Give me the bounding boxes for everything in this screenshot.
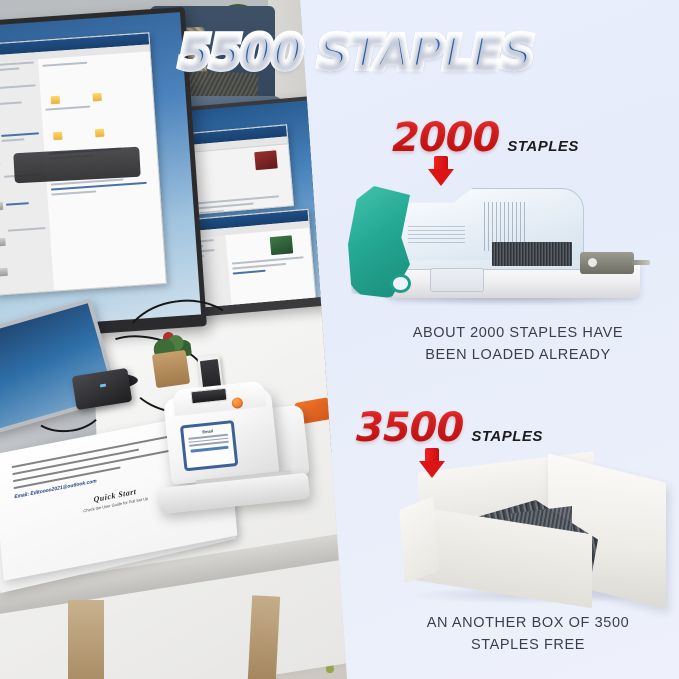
- text-line: [1, 138, 24, 142]
- caption-2000: ABOUT 2000 STAPLES HAVE BEEN LOADED ALRE…: [368, 322, 668, 367]
- cartridge-handle-hole: [390, 274, 411, 293]
- staple-cartridge-product: [348, 168, 678, 318]
- desk-leg: [68, 600, 104, 679]
- text-line: [0, 84, 35, 89]
- cartridge-clear-housing: [392, 188, 584, 270]
- down-arrow-icon: [419, 448, 445, 478]
- desk-leg: [248, 595, 280, 679]
- box-left-flap: [399, 496, 438, 583]
- text-line: [13, 449, 172, 482]
- page-title-text: 5500 STAPLES: [179, 26, 533, 79]
- window-content: [225, 228, 315, 307]
- label-accent-bar: [190, 445, 228, 452]
- electric-stapler: Email: [162, 377, 308, 508]
- text-line: [6, 202, 29, 206]
- text-line: [45, 106, 90, 111]
- thumbnail-image: [269, 235, 292, 255]
- caption-3500: AN ANOTHER BOX OF 3500 STAPLES FREE: [378, 612, 678, 657]
- desk-scene-photo: Email: Editoooo2021@outlook.com Quick St…: [0, 0, 352, 679]
- cartridge-ribs: [408, 223, 465, 244]
- page-title: 5500 STAPLES: [0, 26, 679, 79]
- cartridge-window: [430, 268, 484, 292]
- text-line: [232, 270, 266, 275]
- cartridge-pin: [632, 260, 650, 265]
- product-infographic: Email: Editoooo2021@outlook.com Quick St…: [0, 0, 679, 679]
- drive-icon: [0, 238, 6, 247]
- cartridge-pivot-hole: [588, 258, 597, 267]
- folder-icon: [95, 129, 105, 138]
- callout-unit-2000: STAPLES: [507, 139, 579, 154]
- callout-number-3500: 3500: [356, 408, 463, 448]
- arrow-head: [419, 461, 445, 478]
- callout-3500-header: 3500 STAPLES: [356, 408, 543, 448]
- drive-icon: [0, 268, 8, 277]
- folder-icon: [50, 96, 60, 105]
- text-line: [1, 132, 39, 137]
- arrow-head: [428, 169, 454, 186]
- thumbnail-image: [254, 150, 277, 170]
- drive-icon: [0, 202, 3, 211]
- text-line: [8, 227, 46, 232]
- loaded-staples: [492, 242, 572, 266]
- folder-icon: [92, 93, 102, 102]
- text-line: [51, 190, 96, 195]
- text-line: [231, 256, 304, 264]
- staple-box-product: [398, 458, 678, 608]
- text-line: [0, 101, 22, 105]
- folder-icon: [53, 132, 63, 141]
- down-arrow-icon: [428, 156, 454, 186]
- callout-unit-3500: STAPLES: [471, 429, 543, 444]
- stapler-label-sticker: Email: [180, 420, 239, 471]
- callout-number-2000: 2000: [392, 118, 499, 158]
- small-plant-pot: [152, 350, 190, 388]
- callout-2000-header: 2000 STAPLES: [392, 118, 579, 158]
